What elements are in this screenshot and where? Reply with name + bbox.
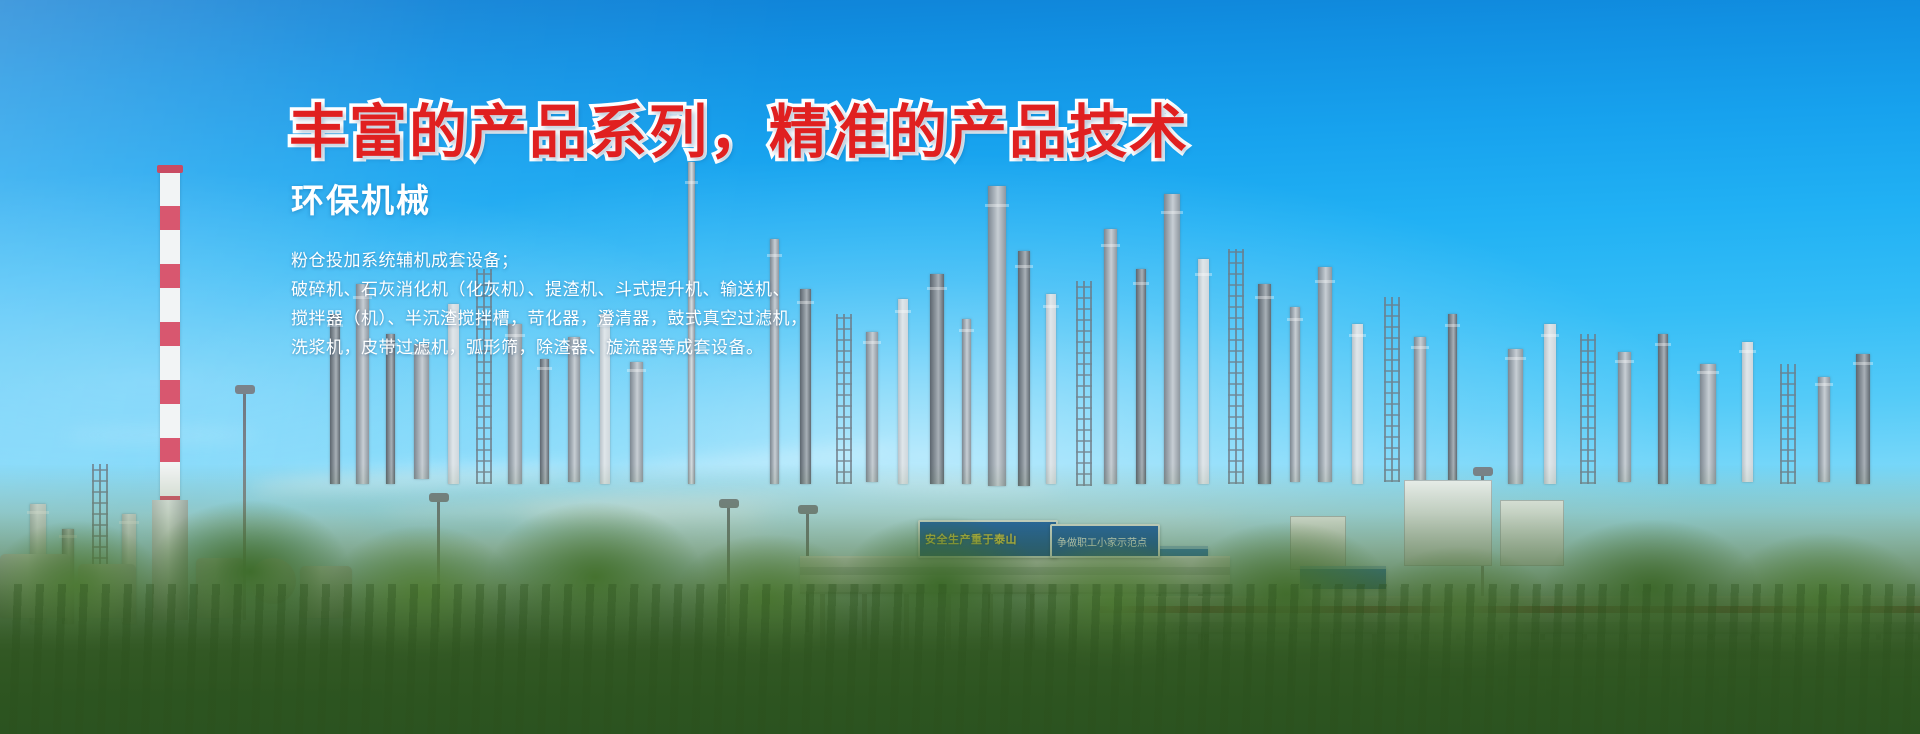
process-column [1658,334,1668,484]
process-column [1318,267,1332,482]
page-title: 丰富的产品系列，精准的产品技术 [289,103,1189,164]
process-column [1198,259,1209,484]
description-paragraph: 粉仓投加系统辅机成套设备； 破碎机、石灰消化机（化灰机）、提渣机、斗式提升机、输… [291,246,1121,362]
description-line: 粉仓投加系统辅机成套设备； [291,246,1121,275]
process-column [1544,324,1556,484]
process-column [1414,337,1426,482]
striped-chimney [160,172,180,502]
hero-banner: 安全生产重于泰山 争做职工小家示范点 丰富的产品系列，精准的产品技术 环保机械 … [0,0,1920,734]
hero-copy-block: 丰富的产品系列，精准的产品技术 环保机械 粉仓投加系统辅机成套设备； 破碎机、石… [289,103,1189,362]
lattice-mast [1228,249,1244,484]
process-column [1448,314,1457,484]
description-line: 洗浆机，皮带过滤机，弧形筛，除渣器、旋流器等成套设备。 [291,333,1121,362]
process-column [1290,307,1300,482]
subtitle: 环保机械 [291,181,1189,221]
description-line: 破碎机、石灰消化机（化灰机）、提渣机、斗式提升机、输送机、 [291,275,1121,304]
description-line: 搅拌器（机）、半沉渣搅拌槽，苛化器，澄清器，鼓式真空过滤机， [291,304,1121,333]
process-column [1352,324,1363,484]
process-column [1618,352,1631,482]
process-column [1258,284,1271,484]
process-column [414,344,429,479]
process-column [1742,342,1753,482]
treeline-foreground [0,584,1920,734]
lattice-mast [1384,297,1400,482]
lattice-mast [1580,334,1596,484]
